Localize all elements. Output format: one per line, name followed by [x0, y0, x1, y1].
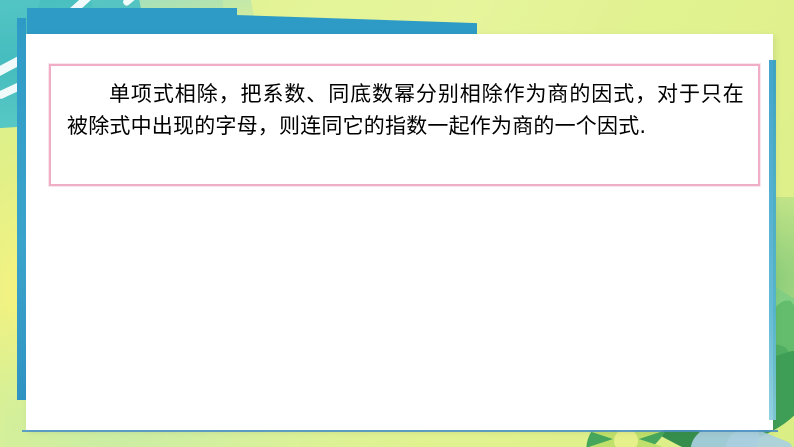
- card-left-accent-bar: [17, 18, 26, 400]
- card-right-accent-bar: [769, 60, 776, 420]
- rule-text-paragraph: 单项式相除，把系数、同底数幂分别相除作为商的因式，对于只在被除式中出现的字母，则…: [67, 78, 744, 142]
- card-bottom-rule: [22, 430, 778, 432]
- slide-canvas: 单项式相除，把系数、同底数幂分别相除作为商的因式，对于只在被除式中出现的字母，则…: [0, 0, 794, 447]
- rule-text-box-inner: 单项式相除，把系数、同底数幂分别相除作为商的因式，对于只在被除式中出现的字母，则…: [51, 66, 758, 184]
- rule-text-box: 单项式相除，把系数、同底数幂分别相除作为商的因式，对于只在被除式中出现的字母，则…: [49, 64, 760, 186]
